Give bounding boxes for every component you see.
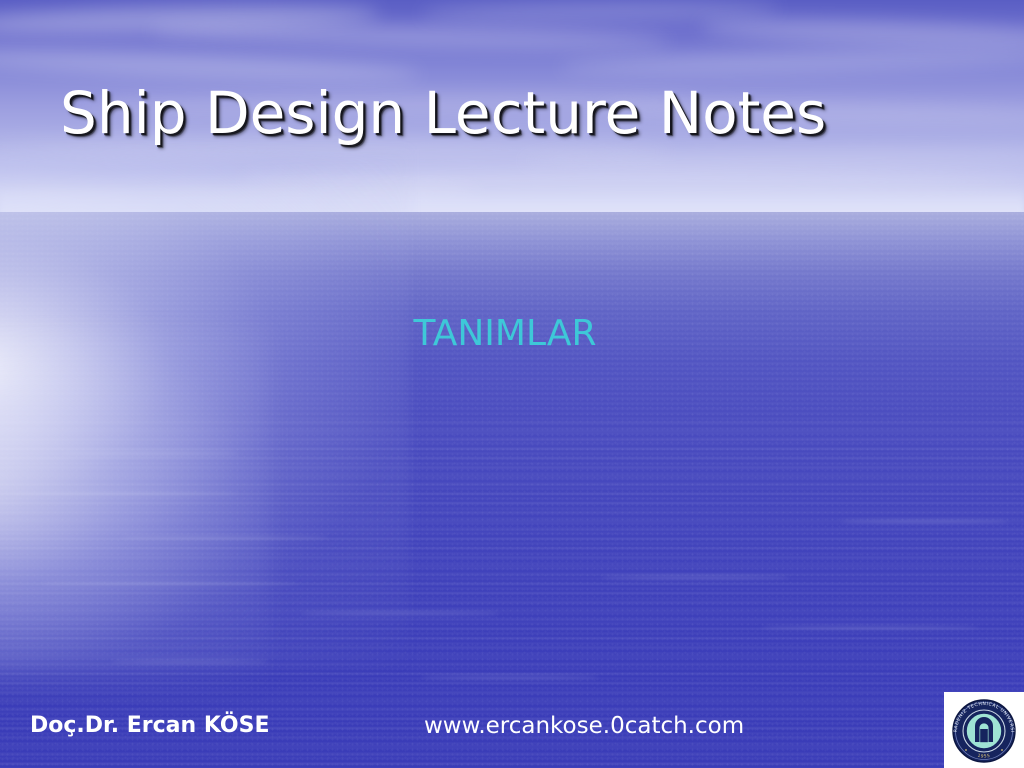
- cloud-streak: [520, 148, 1024, 169]
- water-highlight-streak: [840, 520, 1010, 523]
- sun-glare-left-inner: [0, 330, 270, 690]
- cloud-streak: [150, 21, 670, 52]
- university-logo: KARADENIZ TECHNICAL UNIVERSITY 1955: [944, 692, 1024, 768]
- footer-url[interactable]: www.ercankose.0catch.com: [424, 713, 744, 739]
- cloud-streak: [700, 16, 1024, 50]
- water-highlight-streak: [420, 676, 600, 679]
- cloud-streak: [560, 46, 1024, 77]
- cloud-streak: [0, 0, 380, 38]
- footer-author: Doç.Dr. Ercan KÖSE: [30, 713, 270, 738]
- page-title: Ship Design Lecture Notes: [60, 83, 826, 144]
- presentation-slide: Ship Design Lecture Notes TANIMLAR Doç.D…: [0, 0, 1024, 768]
- water-highlight-streak: [600, 576, 790, 579]
- water-highlight-streak: [760, 626, 980, 629]
- karadeniz-technical-university-logo-icon: KARADENIZ TECHNICAL UNIVERSITY 1955: [944, 692, 1024, 768]
- cloud-streak: [420, 0, 780, 23]
- slide-subtitle: TANIMLAR: [0, 313, 1010, 354]
